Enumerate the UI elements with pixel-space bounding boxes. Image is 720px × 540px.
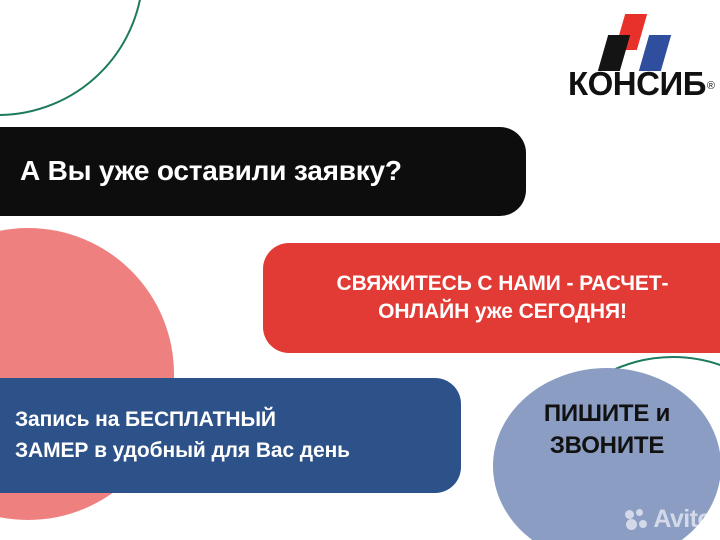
logo-mark-group (568, 14, 704, 66)
logo-wordmark-row: КОНСИБ® (568, 67, 704, 100)
konsib-logo: КОНСИБ® (568, 14, 704, 106)
free-measurement-line-2: ЗАМЕР в удобный для Вас день (15, 436, 350, 466)
contact-banner-text: СВЯЖИТЕСЬ С НАМИ - РАСЧЕТ- ОНЛАЙН уже СЕ… (337, 270, 669, 327)
avito-watermark-label: Avito (653, 505, 712, 534)
free-measurement-banner-text: Запись на БЕСПЛАТНЫЙ ЗАМЕР в удобный для… (15, 405, 350, 466)
logo-wordmark-text: КОНСИБ (568, 65, 706, 102)
advertisement-canvas: КОНСИБ® А Вы уже оставили заявку? СВЯЖИТ… (0, 0, 720, 540)
avito-watermark: Avito (625, 505, 712, 534)
write-and-call-line-1: ПИШИТЕ и (493, 398, 720, 430)
write-and-call-line-2: ЗВОНИТЕ (493, 430, 720, 462)
free-measurement-line-1: Запись на БЕСПЛАТНЫЙ (15, 405, 350, 435)
write-and-call-cta: ПИШИТЕ и ЗВОНИТЕ (493, 398, 720, 463)
registered-trademark-icon: ® (707, 80, 715, 92)
question-banner: А Вы уже оставили заявку? (0, 127, 526, 216)
contact-banner-line-1: СВЯЖИТЕСЬ С НАМИ - РАСЧЕТ- (337, 270, 669, 298)
contact-banner: СВЯЖИТЕСЬ С НАМИ - РАСЧЕТ- ОНЛАЙН уже СЕ… (263, 243, 720, 353)
contact-banner-line-2: ОНЛАЙН уже СЕГОДНЯ! (337, 298, 669, 326)
avito-dots-icon (625, 509, 649, 531)
question-banner-text: А Вы уже оставили заявку? (20, 155, 402, 187)
green-circle-outline-top-left-decoration (0, 0, 144, 116)
free-measurement-banner: Запись на БЕСПЛАТНЫЙ ЗАМЕР в удобный для… (0, 378, 461, 493)
